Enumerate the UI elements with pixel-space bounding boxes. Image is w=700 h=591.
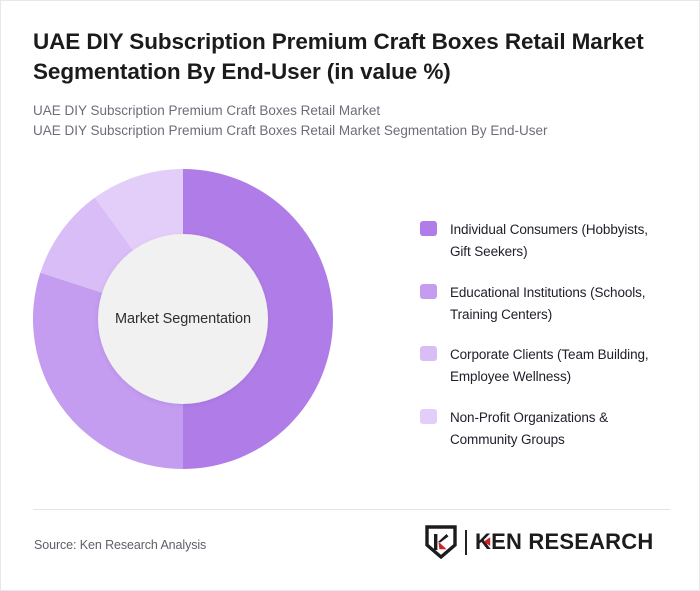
subtitle-line-1: UAE DIY Subscription Premium Craft Boxes… bbox=[33, 101, 653, 122]
page-title: UAE DIY Subscription Premium Craft Boxes… bbox=[33, 27, 653, 87]
legend-item-label: Non-Profit Organizations & Community Gro… bbox=[450, 407, 670, 451]
subtitle-line-2: UAE DIY Subscription Premium Craft Boxes… bbox=[33, 121, 653, 142]
footer-divider bbox=[33, 509, 670, 510]
donut-hole bbox=[98, 234, 268, 404]
legend-item-label: Individual Consumers (Hobbyists, Gift Se… bbox=[450, 219, 670, 263]
legend-item[interactable]: Corporate Clients (Team Building, Employ… bbox=[420, 344, 670, 388]
donut-chart-svg bbox=[33, 169, 333, 469]
subtitle-block: UAE DIY Subscription Premium Craft Boxes… bbox=[33, 101, 653, 142]
legend-swatch-icon bbox=[420, 346, 437, 361]
brand-wordmark-text: KEN RESEARCH bbox=[475, 529, 653, 554]
brand-separator bbox=[465, 530, 467, 555]
legend-swatch-icon bbox=[420, 221, 437, 236]
chart-card: UAE DIY Subscription Premium Craft Boxes… bbox=[0, 0, 700, 591]
legend-item[interactable]: Educational Institutions (Schools, Train… bbox=[420, 282, 670, 326]
legend-swatch-icon bbox=[420, 409, 437, 424]
source-note: Source: Ken Research Analysis bbox=[34, 538, 206, 552]
legend-item-label: Corporate Clients (Team Building, Employ… bbox=[450, 344, 670, 388]
chart-legend: Individual Consumers (Hobbyists, Gift Se… bbox=[420, 219, 670, 470]
legend-item-label: Educational Institutions (Schools, Train… bbox=[450, 282, 670, 326]
ken-research-shield-icon bbox=[425, 525, 457, 559]
chart-body: Market Segmentation Individual Consumers… bbox=[1, 169, 700, 499]
legend-item[interactable]: Non-Profit Organizations & Community Gro… bbox=[420, 407, 670, 451]
chart-header: UAE DIY Subscription Premium Craft Boxes… bbox=[33, 27, 653, 142]
brand-logo: KEN RESEARCH bbox=[425, 524, 671, 560]
legend-swatch-icon bbox=[420, 284, 437, 299]
ken-research-wordmark: KEN RESEARCH bbox=[475, 529, 671, 555]
legend-item[interactable]: Individual Consumers (Hobbyists, Gift Se… bbox=[420, 219, 670, 263]
donut-chart: Market Segmentation bbox=[33, 169, 333, 499]
